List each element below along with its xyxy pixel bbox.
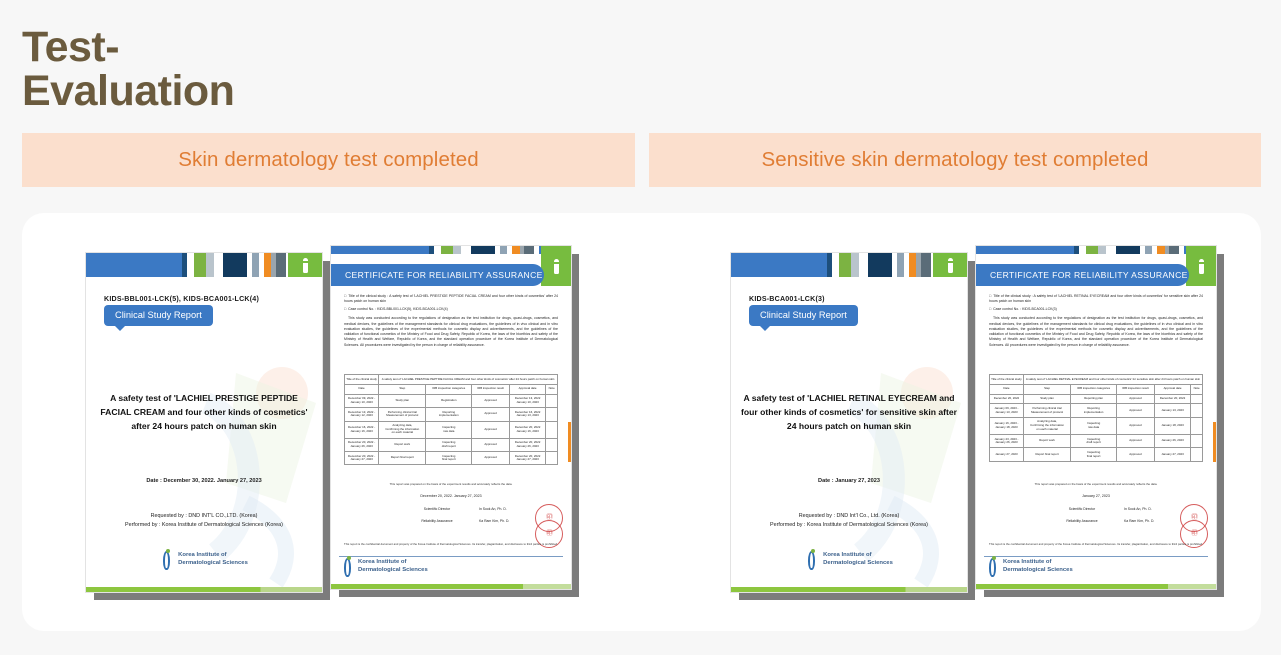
table-header-cell: Date [345, 384, 379, 394]
certificate-paragraph: This study was conducted according to th… [989, 316, 1203, 348]
table-header-cell: Approval date [1154, 384, 1190, 394]
table-span-left: Title of the clinical study [990, 375, 1024, 385]
stripe-segment [1169, 246, 1179, 254]
table-cell: Reportingimplementation [426, 408, 472, 421]
stripe-segment [461, 246, 471, 254]
signature-row: Reliability AssuranceKa Ram Kim, Ph. D. [409, 520, 545, 523]
table-cell: Approved [472, 438, 510, 451]
stripe-segment [524, 246, 534, 254]
cover-stripe-bar [86, 253, 322, 277]
kids-logo-icon [1186, 246, 1216, 286]
table-cell [546, 452, 558, 465]
cover-date: Date : December 30, 2022. January 27, 20… [86, 478, 322, 484]
stripe-segment [976, 246, 1074, 254]
table-cell: Report work [379, 438, 426, 451]
stripe-segment [471, 246, 495, 254]
table-cell: Analyzing data,Confirming the informatio… [1023, 417, 1070, 434]
table-cell: Approved [1117, 448, 1155, 461]
cover-parties: Requested by : DND INT'L CO.,LTD. (Korea… [86, 512, 322, 531]
certificate-case-value: KIDS-BBL001-LCK(5), KIDS-BCA001-LCK(4) [377, 307, 448, 311]
certificate-confidential-note: This report is the confidential document… [344, 542, 558, 546]
certificate-title-row: □Title of the clinical study : A safety … [989, 294, 1203, 305]
certificate-signatures: Scientific DirectorIn Sook An, Ph. D.Rel… [1054, 508, 1190, 533]
cover-code: KIDS-BBL001-LCK(5), KIDS-BCA001-LCK(4) [104, 295, 259, 303]
certificate-page: CERTIFICATE FOR RELIABILITY ASSURANCE □T… [330, 245, 572, 590]
stripe-segment [331, 246, 429, 254]
table-row: January 27, 2023Report final reportInspe… [990, 448, 1203, 461]
table-row: December 16, 2022 -January 16, 2023Analy… [345, 421, 558, 438]
table-cell: Approved [472, 408, 510, 421]
certificate-title-label: Title of the clinical study : [993, 294, 1032, 298]
stripe-segment [453, 246, 460, 254]
stripe-segment [921, 253, 931, 277]
certificate-paragraph: This study was conducted according to th… [344, 316, 558, 348]
cover-requested-by: Requested by : DND INT'L CO.,LTD. (Korea… [86, 512, 322, 521]
certificate-table-footnote: This report was prepared on the basis of… [344, 482, 558, 486]
table-row: December 20, 2022Study planReporting pla… [990, 394, 1203, 404]
table-row: January 16, 2023 -January 18, 2023Analyz… [990, 417, 1203, 434]
table-cell: December 16, 2022January 13, 2023 [509, 408, 545, 421]
clinical-study-report-badge[interactable]: Clinical Study Report [104, 305, 213, 326]
certificate-date: January 27, 2023 [976, 494, 1216, 498]
certificate-header-label: CERTIFICATE FOR RELIABILITY ASSURANCE [976, 270, 1188, 280]
stripe-segment [214, 253, 224, 277]
stripe-segment [1098, 246, 1105, 254]
table-cell: December 20, 2022January 27, 2023 [509, 452, 545, 465]
orange-tab-marker [1213, 422, 1217, 462]
table-header-cell: IRB inspection result [472, 384, 510, 394]
table-row: Title of the clinical studyA safety test… [990, 375, 1203, 385]
table-cell: Approved [1117, 404, 1155, 417]
table-row: December 09, 2022 -January 10, 2023Study… [345, 394, 558, 407]
table-cell: Inspectingraw data [1071, 417, 1117, 434]
table-cell: December 20, 2022 -January 26, 2023 [345, 438, 379, 451]
stripe-segment [500, 246, 507, 254]
cover-requested-by: Requested by : DND Int'l Co., Ltd. (Kore… [731, 512, 967, 521]
table-row: December 20, 2022 -January 26, 2023Repor… [345, 438, 558, 451]
table-cell: Approved [1117, 434, 1155, 447]
kids-logo-icon [933, 253, 967, 277]
table-header-cell: Step [379, 384, 426, 394]
stripe-segment [1157, 246, 1164, 254]
certificate-footer-bar [976, 584, 1216, 589]
cover-code: KIDS-BCA001-LCK(3) [749, 295, 825, 303]
cover-parties: Requested by : DND Int'l Co., Ltd. (Kore… [731, 512, 967, 531]
table-cell: Registration [426, 394, 472, 407]
table-cell: Approved [472, 452, 510, 465]
table-header-cell: IRB inspection result [1117, 384, 1155, 394]
stripe-segment [1079, 246, 1086, 254]
certificate-footer-bar [331, 584, 571, 589]
banner-right-label: Sensitive skin dermatology test complete… [762, 148, 1149, 172]
table-cell [1191, 404, 1203, 417]
table-cell: Approved [1117, 417, 1155, 434]
cert-stripe-bar [976, 246, 1216, 254]
table-span-right: A safety test of 'LACHIEL PRESTIGE PEPTI… [379, 375, 558, 385]
certificate-table: Title of the clinical studyA safety test… [344, 374, 558, 465]
cover-footer-bar [86, 587, 322, 592]
table-row: January 23, 2023 -January 26, 2023Report… [990, 434, 1203, 447]
table-header-cell: IRB inspection categories [1071, 384, 1117, 394]
table-row: December 20, 2022 -January 27, 2023Repor… [345, 452, 558, 465]
stripe-segment [194, 253, 206, 277]
table-header-cell: IRB inspection categories [426, 384, 472, 394]
cover-stripe-bar [731, 253, 967, 277]
table-row: January 09, 2023 -January 13, 2023Perfor… [990, 404, 1203, 417]
signature-role: Scientific Director [1054, 508, 1110, 511]
checkbox-icon: □ [989, 307, 991, 311]
signature-name: In Sook An, Ph. D. [1124, 508, 1190, 511]
banner-sensitive-skin-dermatology: Sensitive skin dermatology test complete… [649, 133, 1261, 187]
table-cell: Report work [1023, 434, 1070, 447]
table-cell [546, 408, 558, 421]
cover-page: KIDS-BCA001-LCK(3) Clinical Study Report… [730, 252, 968, 593]
table-cell: Report final report [379, 452, 426, 465]
table-cell: December 13, 2022January 10, 2023 [509, 394, 545, 407]
banner-skin-dermatology: Skin dermatology test completed [22, 133, 635, 187]
table-cell: Inspectingfinal report [1071, 448, 1117, 461]
table-row: December 13, 2022 -January 12, 2023Perfo… [345, 408, 558, 421]
table-cell: Analyzing data,Confirming the informatio… [379, 421, 426, 438]
table-cell [546, 394, 558, 407]
table-cell: Inspectingfinal report [426, 452, 472, 465]
stripe-segment [1086, 246, 1098, 254]
table-cell: January 27, 2023 [990, 448, 1024, 461]
certificate-title-row: □Title of the clinical study : A safety … [344, 294, 558, 305]
stripe-segment [1116, 246, 1140, 254]
table-header-cell: Approval date [509, 384, 545, 394]
stripe-segment [868, 253, 892, 277]
table-cell [1191, 394, 1203, 404]
table-cell: January 18, 2023 [1154, 417, 1190, 434]
document-group-left: KIDS-BBL001-LCK(5), KIDS-BCA001-LCK(4) C… [85, 213, 605, 631]
table-cell: January 23, 2023 -January 26, 2023 [990, 434, 1024, 447]
table-cell: December 20, 2022 -January 27, 2023 [345, 452, 379, 465]
orange-tab-marker [568, 422, 572, 462]
table-cell: Approved [1117, 394, 1155, 404]
stripe-segment [441, 246, 453, 254]
stripe-segment [859, 253, 869, 277]
table-cell: Study plan [1023, 394, 1070, 404]
table-cell: Inspectingdraft report [1071, 434, 1117, 447]
certificate-case-label: Case control No. : [993, 307, 1021, 311]
signature-role: Reliability Assurance [409, 520, 465, 523]
stripe-segment [512, 246, 519, 254]
page-title: Test- Evaluation [22, 26, 234, 114]
stripe-segment [897, 253, 904, 277]
clinical-study-report-badge[interactable]: Clinical Study Report [749, 305, 858, 326]
signature-role: Scientific Director [409, 508, 465, 511]
table-cell: January 27, 2023 [1154, 448, 1190, 461]
banner-left-label: Skin dermatology test completed [178, 148, 479, 172]
institute-logo: Korea Institute of Dermatological Scienc… [731, 549, 967, 570]
checkbox-icon: □ [344, 294, 346, 298]
table-header-cell: Note [546, 384, 558, 394]
table-cell: Performing clinical trialMeasurement of … [1023, 404, 1070, 417]
institute-logo-icon [341, 556, 354, 577]
stripe-segment [839, 253, 851, 277]
table-cell: Reporting plan [1071, 394, 1117, 404]
table-cell: December 16, 2022 -January 16, 2023 [345, 421, 379, 438]
cert-stripe-bar [331, 246, 571, 254]
signature-name: In Sook An, Ph. D. [479, 508, 545, 511]
cover-title: A safety test of 'LACHIEL PRESTIGE PEPTI… [96, 391, 312, 434]
institute-logo: Korea Institute of Dermatological Scienc… [986, 556, 1073, 577]
table-cell: Approved [472, 421, 510, 438]
stripe-segment [206, 253, 213, 277]
stripe-segment [187, 253, 194, 277]
signature-row: Scientific DirectorIn Sook An, Ph. D. [409, 508, 545, 511]
certificate-confidential-note: This report is the confidential document… [989, 542, 1203, 546]
table-cell: December 13, 2022 -January 12, 2023 [345, 408, 379, 421]
signature-row: Scientific DirectorIn Sook An, Ph. D. [1054, 508, 1190, 511]
table-cell: Inspectingdraft report [426, 438, 472, 451]
table-cell: December 20, 2022 [1154, 394, 1190, 404]
stripe-segment [252, 253, 259, 277]
table-cell: Study plan [379, 394, 426, 407]
certificate-case-row: □Case control No. : KIDS-BCA001-LCK(3) [989, 307, 1203, 312]
table-row: Title of the clinical studyA safety test… [345, 375, 558, 385]
cover-title: A safety test of 'LACHIEL RETINAL EYECRE… [741, 391, 957, 434]
table-cell [1191, 417, 1203, 434]
checkbox-icon: □ [989, 294, 991, 298]
documents-card: KIDS-BBL001-LCK(5), KIDS-BCA001-LCK(4) C… [22, 213, 1261, 631]
table-cell: January 26, 2023 [1154, 434, 1190, 447]
stripe-segment [264, 253, 271, 277]
institute-logo-text: Korea Institute of Dermatological Scienc… [178, 552, 248, 567]
table-cell: December 20, 2022 [990, 394, 1024, 404]
stripe-segment [1145, 246, 1152, 254]
certificate-case-label: Case control No. : [348, 307, 376, 311]
table-cell: January 09, 2023 -January 13, 2023 [990, 404, 1024, 417]
table-cell: Report final report [1023, 448, 1070, 461]
certificate-case-value: KIDS-BCA001-LCK(3) [1022, 307, 1057, 311]
certificate-body: □Title of the clinical study : A safety … [344, 294, 558, 348]
table-cell: Inspectingraw data [426, 421, 472, 438]
institute-logo: Korea Institute of Dermatological Scienc… [86, 549, 322, 570]
kids-logo-icon [288, 253, 322, 277]
certificate-header: CERTIFICATE FOR RELIABILITY ASSURANCE [331, 264, 544, 286]
certificate-page: CERTIFICATE FOR RELIABILITY ASSURANCE □T… [975, 245, 1217, 590]
table-cell: Approved [472, 394, 510, 407]
signature-role: Reliability Assurance [1054, 520, 1110, 523]
table-header-row: DateStepIRB inspection categoriesIRB ins… [990, 384, 1203, 394]
table-cell [546, 438, 558, 451]
table-cell: December 20, 2022January 16, 2023 [509, 421, 545, 438]
kids-logo-icon [541, 246, 571, 286]
stripe-segment [1106, 246, 1116, 254]
cover-performed-by: Performed by : Korea Institute of Dermat… [86, 521, 322, 530]
certificate-title-label: Title of the clinical study : [348, 294, 388, 298]
institute-logo-icon [160, 549, 173, 570]
certificate-body: □Title of the clinical study : A safety … [989, 294, 1203, 348]
stripe-segment [909, 253, 916, 277]
institute-logo-text: Korea Institute of Dermatological Scienc… [823, 552, 893, 567]
table-span-right: A safety test of 'LACHIEL RETINAL EYECRE… [1023, 375, 1202, 385]
stripe-segment [832, 253, 839, 277]
table-header-cell: Date [990, 384, 1024, 394]
institute-logo-icon [986, 556, 999, 577]
institute-logo: Korea Institute of Dermatological Scienc… [341, 556, 428, 577]
cover-footer-bar [731, 587, 967, 592]
cover-page: KIDS-BBL001-LCK(5), KIDS-BCA001-LCK(4) C… [85, 252, 323, 593]
stripe-segment [731, 253, 827, 277]
table-cell: January 16, 2023 -January 18, 2023 [990, 417, 1024, 434]
table-cell: Performing clinical trialMeasurement of … [379, 408, 426, 421]
cover-performed-by: Performed by : Korea Institute of Dermat… [731, 521, 967, 530]
certificate-table: Title of the clinical studyA safety test… [989, 374, 1203, 462]
certificate-date: December 20, 2022. January 27, 2023 [331, 494, 571, 498]
stripe-segment [223, 253, 247, 277]
certificate-header: CERTIFICATE FOR RELIABILITY ASSURANCE [976, 264, 1189, 286]
table-cell [1191, 448, 1203, 461]
table-cell: Reportingimplementation [1071, 404, 1117, 417]
certificate-header-label: CERTIFICATE FOR RELIABILITY ASSURANCE [331, 270, 543, 280]
signature-row: Reliability AssuranceKa Ram Kim, Ph. D. [1054, 520, 1190, 523]
stripe-segment [276, 253, 286, 277]
table-cell: December 20, 2022January 26, 2023 [509, 438, 545, 451]
table-cell: January 13, 2023 [1154, 404, 1190, 417]
table-cell: December 09, 2022 -January 10, 2023 [345, 394, 379, 407]
table-header-cell: Note [1191, 384, 1203, 394]
certificate-table-footnote: This report was prepared on the basis of… [989, 482, 1203, 486]
institute-logo-text: Korea Institute of Dermatological Scienc… [1003, 559, 1073, 574]
table-span-left: Title of the clinical study [345, 375, 379, 385]
table-cell [546, 421, 558, 438]
table-header-cell: Step [1023, 384, 1070, 394]
table-header-row: DateStepIRB inspection categoriesIRB ins… [345, 384, 558, 394]
stripe-segment [434, 246, 441, 254]
checkbox-icon: □ [344, 307, 346, 311]
certificate-signatures: Scientific DirectorIn Sook An, Ph. D.Rel… [409, 508, 545, 533]
document-group-right: KIDS-BCA001-LCK(3) Clinical Study Report… [730, 213, 1250, 631]
table-cell [1191, 434, 1203, 447]
cover-date: Date : January 27, 2023 [731, 478, 967, 484]
stripe-segment [86, 253, 182, 277]
stripe-segment [851, 253, 858, 277]
institute-logo-icon [805, 549, 818, 570]
institute-logo-text: Korea Institute of Dermatological Scienc… [358, 559, 428, 574]
certificate-case-row: □Case control No. : KIDS-BBL001-LCK(5), … [344, 307, 558, 312]
